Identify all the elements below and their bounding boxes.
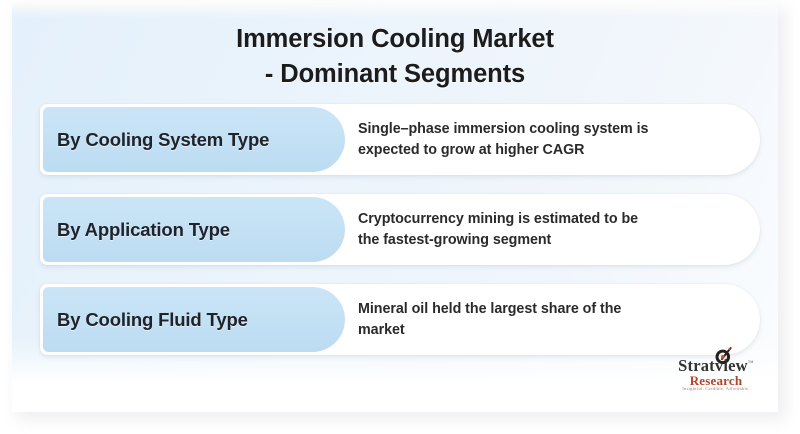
title-line-2: - Dominant Segments	[12, 57, 778, 92]
logo-tagline: Insightful. Credible. Affordable.	[668, 387, 764, 392]
segment-description: Cryptocurrency mining is estimated to be…	[358, 209, 638, 250]
segment-label-pill: By Cooling System Type	[43, 107, 345, 172]
segment-label: By Cooling Fluid Type	[57, 309, 248, 331]
segment-row: By Cooling Fluid Type Mineral oil held t…	[40, 284, 760, 355]
title-line-1: Immersion Cooling Market	[236, 25, 554, 53]
page-title: Immersion Cooling Market - Dominant Segm…	[12, 22, 778, 92]
segment-label-pill: By Cooling Fluid Type	[43, 287, 345, 352]
logo-trademark: ™	[748, 361, 754, 367]
segment-description: Single–phase immersion cooling system is…	[358, 119, 648, 160]
segment-label: By Cooling System Type	[57, 129, 269, 151]
segment-description-area: Single–phase immersion cooling system is…	[358, 104, 738, 175]
segment-row: By Application Type Cryptocurrency minin…	[40, 194, 760, 265]
segment-label: By Application Type	[57, 219, 230, 241]
brand-logo: Stratview™ Research Insightful. Credible…	[668, 346, 764, 398]
infographic-panel: Immersion Cooling Market - Dominant Segm…	[12, 2, 778, 412]
segment-description: Mineral oil held the largest share of th…	[358, 299, 621, 340]
segment-row: By Cooling System Type Single–phase imme…	[40, 104, 760, 175]
infographic-canvas: Immersion Cooling Market - Dominant Segm…	[0, 0, 800, 434]
segment-description-area: Mineral oil held the largest share of th…	[358, 284, 738, 355]
segment-description-area: Cryptocurrency mining is estimated to be…	[358, 194, 738, 265]
segment-label-pill: By Application Type	[43, 197, 345, 262]
